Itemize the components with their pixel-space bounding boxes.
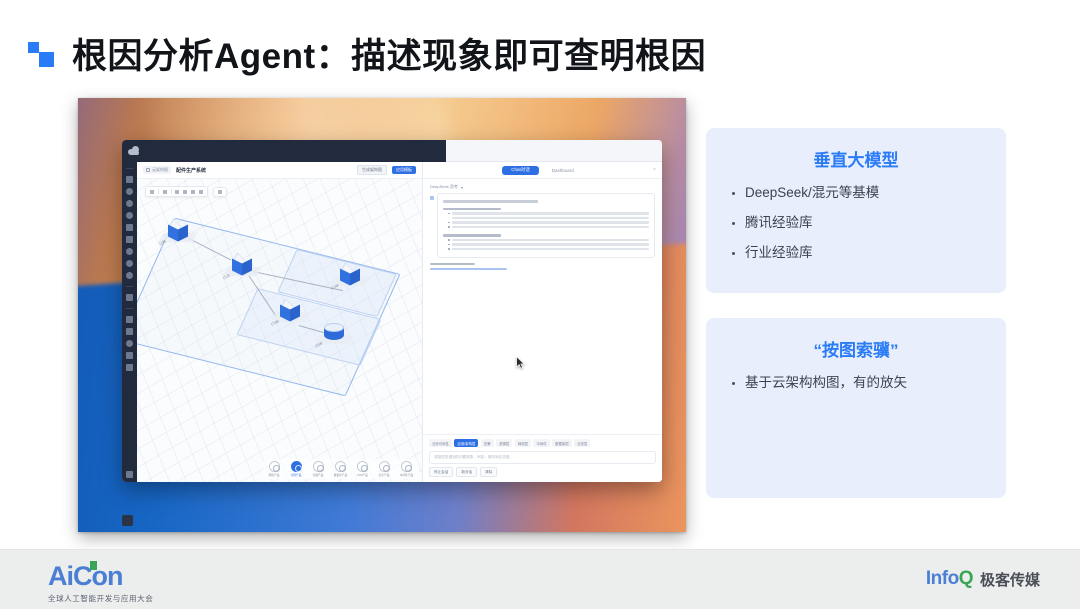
chat-tabbar[interactable]: Chat对话 Dashboard × [423,162,662,179]
sidebar-item-chart-icon[interactable] [126,328,133,335]
infoq-logo-suffix: Q [959,568,973,589]
chat-panel: Chat对话 Dashboard × DeepSeek-思考 ▾ [423,162,662,482]
cloud-logo-icon [128,146,140,156]
app-window: 云架构图 配件生产系统 生成架构图 应用模板 [122,140,662,482]
cdn-icon [357,461,368,472]
infoq-logo-prefix: Info [926,568,959,589]
chip-availability[interactable]: 业务可用性 [429,439,452,447]
slide-footer [0,550,1080,609]
bullet-dot-icon [732,192,735,195]
panel-title: “按图索骥” [720,336,992,361]
chip-resource[interactable]: 资源层 [496,439,512,447]
database-icon [335,461,346,472]
node-internet[interactable]: 公网 [161,217,195,247]
infoq-logo: InfoQ 极客传媒 [926,568,1040,590]
page-title: 根因分析Agent：描述现象即可查明根因 [72,28,706,79]
middleware-icon [401,461,412,472]
slide: 根因分析Agent：描述现象即可查明根因 [0,0,1080,609]
sidebar-item-clock-icon[interactable] [126,200,133,207]
bullet-dot-icon [732,222,735,225]
chip-alert[interactable]: 告警 [481,439,494,447]
dock-item-database[interactable]: 数据库产品 [332,461,349,477]
chat-messages[interactable] [423,193,662,434]
list-item-label: 行业经验库 [745,245,813,261]
slide-header: 根因分析Agent：描述现象即可查明根因 [28,28,706,79]
model-selector-label: DeepSeek-思考 [430,184,458,190]
sidebar-item-globe-icon[interactable] [126,212,133,219]
architecture-canvas-panel: 云架构图 配件生产系统 生成架构图 应用模板 [137,162,423,482]
network-icon [269,461,280,472]
node-cdb[interactable]: CDB [317,319,351,349]
list-item-label: 基于云架构构图，有的放矢 [745,375,907,391]
sidebar-item-cloud-icon[interactable] [126,188,133,195]
category-chips[interactable]: 业务可用性 应用/架构层 告警 资源层 网络层 中间件 数据库层 业务层 [429,439,656,447]
dock-item-security[interactable]: 安全产品 [376,461,393,477]
zoom-in-icon[interactable] [191,190,195,194]
clear-button[interactable]: 清除 [480,467,497,477]
list-item: 基于云架构构图，有的放矢 [732,375,992,391]
node-cvm-b[interactable]: CVM [273,297,307,327]
bullet-dot-icon [732,382,735,385]
close-icon[interactable]: × [653,168,657,172]
avatar [430,196,434,200]
aicon-logo: AiCon 全球人工智能开发与应用大会 [48,563,153,604]
info-panel-anti-tusuoji: “按图索骥” 基于云架构构图，有的放矢 [706,318,1006,498]
sidebar-nav[interactable] [122,162,137,482]
node-label: 公网 [159,239,167,247]
green-flag-icon [90,561,97,570]
tab-chat[interactable]: Chat对话 [502,166,539,175]
chat-composer: 业务可用性 应用/架构层 告警 资源层 网络层 中间件 数据库层 业务层 请描述… [423,434,662,482]
breadcrumb[interactable]: 云架构图 [143,166,171,174]
suggested-question-link[interactable] [430,268,507,270]
align-center-icon[interactable] [183,190,187,194]
sidebar-item-apps-icon[interactable] [126,364,133,371]
list-item-label: 腾讯经验库 [745,215,813,231]
storage-icon [313,461,324,472]
infoq-label: 极客传媒 [980,569,1040,590]
new-chat-button[interactable]: 新对话 [456,467,477,477]
product-dock[interactable]: 网络产品 计算产品 存储产品 [263,459,418,479]
node-cvm-a[interactable]: CVM [333,261,367,291]
chevron-down-icon: ▾ [461,185,463,190]
sidebar-item-settings-icon[interactable] [126,340,133,347]
align-left-icon[interactable] [175,190,179,194]
model-selector[interactable]: DeepSeek-思考 ▾ [423,179,662,193]
list-item-label: DeepSeek/混元等基模 [745,185,879,201]
sidebar-item-users-icon[interactable] [126,352,133,359]
sidebar-item-report-icon[interactable] [126,316,133,323]
sidebar-item-storage-icon[interactable] [126,260,133,267]
breadcrumb-label: 云架构图 [152,167,168,173]
dock-item-cdn[interactable]: CDN产品 [354,461,371,477]
sidebar-item-grid-icon[interactable] [126,294,133,301]
sidebar-item-help-icon[interactable] [126,471,133,478]
tab-dashboard[interactable]: Dashboard [543,166,583,174]
dock-item-compute[interactable]: 计算产品 [288,461,305,477]
mouse-pointer-icon [516,356,525,369]
chip-middleware[interactable]: 中间件 [533,439,549,447]
app-titlebar [122,140,662,162]
dock-item-storage[interactable]: 存储产品 [310,461,327,477]
node-clb[interactable]: CLB [225,251,259,281]
bullet-dot-icon [732,252,735,255]
panel-title: 垂直大模型 [720,146,992,171]
chip-database[interactable]: 数据库层 [552,439,572,447]
zoom-out-icon[interactable] [199,190,203,194]
assistant-message [430,193,655,258]
stop-session-button[interactable]: 停止会话 [429,467,453,477]
window-minimized-icon [122,515,133,526]
chat-input[interactable]: 请描述您遇到的问题现象，例如：服务响应变慢… [429,451,656,464]
apply-template-button[interactable]: 应用模板 [392,166,416,174]
canvas-header: 云架构图 配件生产系统 生成架构图 应用模板 [137,162,422,179]
screenshot-icon[interactable] [218,190,222,194]
list-item: 行业经验库 [732,245,992,261]
sidebar-item-dashboard-icon[interactable] [126,176,133,183]
two-blue-squares-icon [28,39,54,69]
home-icon [146,168,150,172]
link-icon[interactable] [163,190,167,194]
chip-network[interactable]: 网络层 [515,439,531,447]
compute-icon [291,461,302,472]
sidebar-item-network-icon[interactable] [126,248,133,255]
aicon-logo-text: AiCon [48,561,122,591]
generate-diagram-button[interactable]: 生成架构图 [357,165,387,175]
sidebar-item-database-icon[interactable] [126,272,133,279]
sidebar-item-monitor-icon[interactable] [126,224,133,231]
aicon-tagline: 全球人工智能开发与应用大会 [48,593,153,604]
chip-application[interactable]: 应用/架构层 [454,439,478,447]
list-item: DeepSeek/混元等基模 [732,185,992,201]
dock-item-network[interactable]: 网络产品 [266,461,283,477]
diagram-canvas[interactable]: 公网 CLB CVM [137,179,422,482]
canvas-toolbar[interactable] [145,186,227,197]
shield-icon [379,461,390,472]
sidebar-item-server-icon[interactable] [126,236,133,243]
product-screenshot: 云架构图 配件生产系统 生成架构图 应用模板 [78,98,686,532]
dock-item-middleware[interactable]: 中间件产品 [398,461,415,477]
lock-icon[interactable] [150,190,154,194]
suggested-questions [430,263,655,271]
document-title: 配件生产系统 [176,167,206,174]
chip-business[interactable]: 业务层 [574,439,590,447]
list-item: 腾讯经验库 [732,215,992,231]
info-panel-vertical-model: 垂直大模型 DeepSeek/混元等基模 腾讯经验库 行业经验库 [706,128,1006,293]
